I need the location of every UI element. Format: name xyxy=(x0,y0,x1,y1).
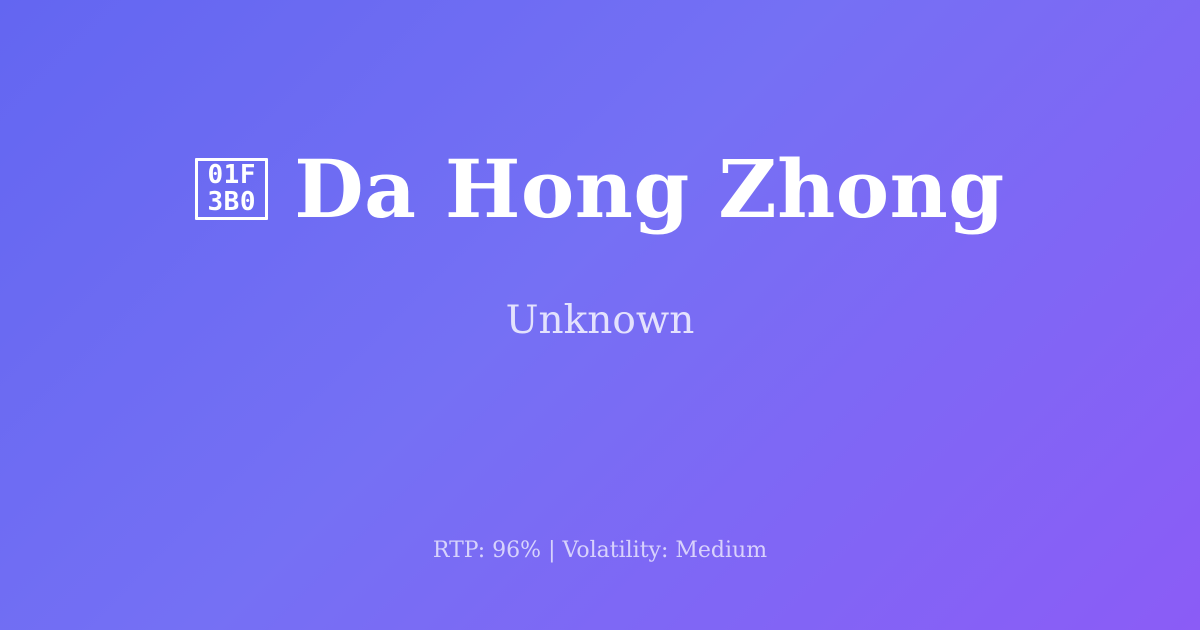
card-footer: RTP: 96% | Volatility: Medium xyxy=(0,540,1200,562)
page-title: Da Hong Zhong xyxy=(294,149,1004,229)
title-row: 01F 3B0 Da Hong Zhong xyxy=(195,149,1004,229)
og-share-card: 01F 3B0 Da Hong Zhong Unknown RTP: 96% |… xyxy=(0,0,1200,630)
card-subtitle: Unknown xyxy=(506,301,695,340)
tofu-hex-top: 01F xyxy=(208,162,256,189)
slot-machine-emoji-icon: 01F 3B0 xyxy=(195,158,268,220)
game-stats-line: RTP: 96% | Volatility: Medium xyxy=(433,540,767,562)
card-content-stack: 01F 3B0 Da Hong Zhong Unknown xyxy=(0,0,1200,492)
tofu-hex-bottom: 3B0 xyxy=(208,189,256,216)
